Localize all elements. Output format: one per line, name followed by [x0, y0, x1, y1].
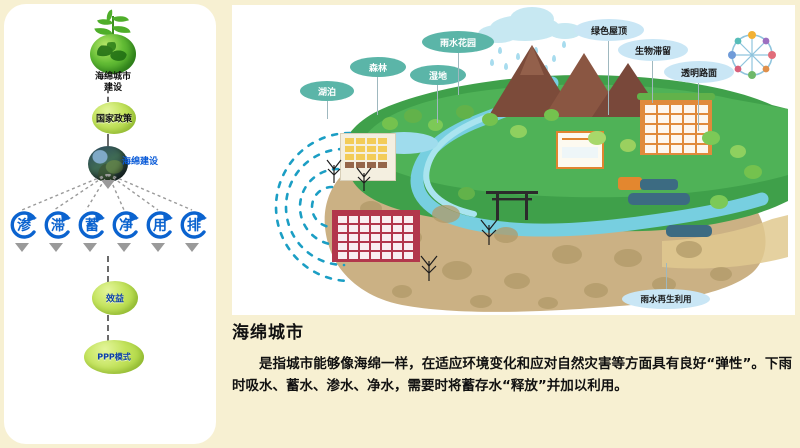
measure-item-purify[interactable]: 净: [110, 209, 142, 241]
node-ppp-model-label: PPP模式: [84, 352, 144, 363]
vehicle-bus: [618, 175, 678, 191]
label-green-roof[interactable]: 绿色屋顶: [574, 19, 644, 41]
node-national-policy[interactable]: 国家政策: [92, 102, 136, 134]
tree-icon: [710, 195, 728, 209]
arrow-down-icon-3: [83, 243, 97, 252]
label-permeable-pavement[interactable]: 透明路面: [664, 61, 734, 83]
measure-label-use: 用: [144, 209, 176, 241]
ferris-wheel-icon: [724, 29, 780, 85]
tree-icon: [510, 125, 527, 138]
measure-label-retain: 滞: [42, 209, 74, 241]
node-benefit[interactable]: 效益: [92, 281, 138, 315]
illustration-panel: 湖泊 森林 湿地 雨水花园 绿色屋顶 生物滞留 透明路面 雨水再生利用: [232, 5, 795, 315]
arrow-down-icon-4: [117, 243, 131, 252]
label-forest-text: 森林: [369, 61, 387, 74]
node-ppp-model[interactable]: PPP模式: [84, 340, 144, 374]
tree-icon: [456, 105, 474, 119]
article-body: 是指城市能够像海绵一样，在适应环境变化和应对自然灾害等方面具有良好“弹性”。下雨…: [232, 353, 792, 397]
sponge-city-illustration: 湖泊 森林 湿地 雨水花园 绿色屋顶 生物滞留 透明路面 雨水再生利用: [232, 5, 795, 315]
label-stick-green-roof: [608, 41, 609, 115]
label-stick-wetland: [437, 85, 438, 123]
measures-row: 渗 滞 蓄: [4, 209, 216, 257]
earth-plant-logo-icon: [82, 12, 144, 74]
label-stick-rainwater-reuse: [666, 263, 667, 289]
tree-icon: [730, 145, 746, 158]
tree-icon: [482, 113, 498, 126]
article-section: 海绵城市 是指城市能够像海绵一样，在适应环境变化和应对自然灾害等方面具有良好“弹…: [232, 318, 792, 397]
tree-icon: [404, 109, 422, 123]
caption-line-1: 海绵城市: [95, 72, 131, 82]
label-stick-rain-garden: [458, 53, 459, 95]
soil-pore: [504, 273, 530, 289]
arrow-down-icon-1: [15, 243, 29, 252]
soil-pore: [614, 249, 642, 267]
label-stick-forest: [377, 77, 378, 115]
label-stick-bioretention: [652, 61, 653, 103]
label-rain-garden-text: 雨水花园: [440, 36, 476, 49]
label-lake-text: 湖泊: [318, 85, 336, 98]
soil-pore: [442, 261, 472, 280]
tree-icon: [588, 131, 606, 145]
label-wetland-text: 湿地: [429, 69, 447, 82]
vehicle-train: [628, 193, 690, 205]
bare-tree-icon: [354, 165, 374, 191]
label-stick-permeable-pavement: [698, 83, 699, 131]
measure-label-infiltrate: 渗: [8, 209, 40, 241]
measure-item-use[interactable]: 用: [144, 209, 176, 241]
connector-dash-1: [107, 88, 109, 102]
sidebar-flowchart: 海绵城市 建设 国家政策 海绵建设: [4, 4, 216, 444]
node-sponge-construction-label: 海绵建设: [122, 154, 192, 167]
sidebar-panel: 海绵城市 建设 国家政策 海绵建设: [4, 4, 216, 444]
article-title: 海绵城市: [232, 318, 792, 343]
arrow-down-center-icon: [101, 180, 115, 189]
arrow-down-icon-6: [185, 243, 199, 252]
measure-label-drain: 排: [178, 209, 210, 241]
bare-tree-icon: [418, 253, 440, 281]
measure-item-store[interactable]: 蓄: [76, 209, 108, 241]
connector-dash-2: [107, 134, 109, 146]
tree-icon: [428, 119, 443, 131]
sidebar-logo-caption: 海绵城市 建设: [64, 72, 162, 94]
vehicle-car: [666, 225, 712, 237]
node-national-policy-label: 国家政策: [92, 112, 136, 125]
connector-dash-4: [107, 315, 109, 341]
tree-icon: [544, 109, 559, 121]
measure-item-infiltrate[interactable]: 渗: [8, 209, 40, 241]
tree-icon: [382, 117, 398, 130]
soil-pore: [470, 295, 492, 308]
measure-label-store: 蓄: [76, 209, 108, 241]
label-permeable-pavement-text: 透明路面: [681, 66, 717, 79]
page-root: 海绵城市 建设 国家政策 海绵建设: [0, 0, 800, 448]
soil-pore: [676, 241, 702, 258]
tree-icon: [458, 187, 475, 200]
soil-pore: [538, 297, 558, 309]
connector-dash-3: [107, 256, 109, 282]
label-rainwater-reuse[interactable]: 雨水再生利用: [622, 289, 710, 309]
label-bioretention-text: 生物滞留: [635, 44, 671, 57]
building-red-residential: [332, 210, 420, 262]
tree-icon: [702, 131, 720, 145]
label-green-roof-text: 绿色屋顶: [591, 24, 627, 37]
label-rain-garden[interactable]: 雨水花园: [422, 31, 494, 53]
tree-icon: [744, 165, 762, 179]
bare-tree-icon: [478, 217, 500, 245]
label-bioretention[interactable]: 生物滞留: [618, 39, 688, 61]
soil-pore: [432, 205, 460, 223]
label-lake[interactable]: 湖泊: [300, 81, 354, 101]
arrow-down-icon-5: [151, 243, 165, 252]
soil-pore: [584, 283, 608, 298]
measure-item-drain[interactable]: 排: [178, 209, 210, 241]
label-rainwater-reuse-text: 雨水再生利用: [640, 293, 691, 305]
soil-pore: [552, 245, 582, 264]
measure-label-purify: 净: [110, 209, 142, 241]
label-stick-lake: [327, 101, 328, 119]
label-forest[interactable]: 森林: [350, 57, 406, 77]
arrow-down-icon-2: [49, 243, 63, 252]
measure-item-retain[interactable]: 滞: [42, 209, 74, 241]
building-green-roof-tower: [640, 99, 712, 155]
node-benefit-label: 效益: [92, 292, 138, 305]
tree-icon: [620, 139, 636, 152]
bare-tree-icon: [324, 157, 344, 183]
soil-pore: [710, 267, 732, 281]
